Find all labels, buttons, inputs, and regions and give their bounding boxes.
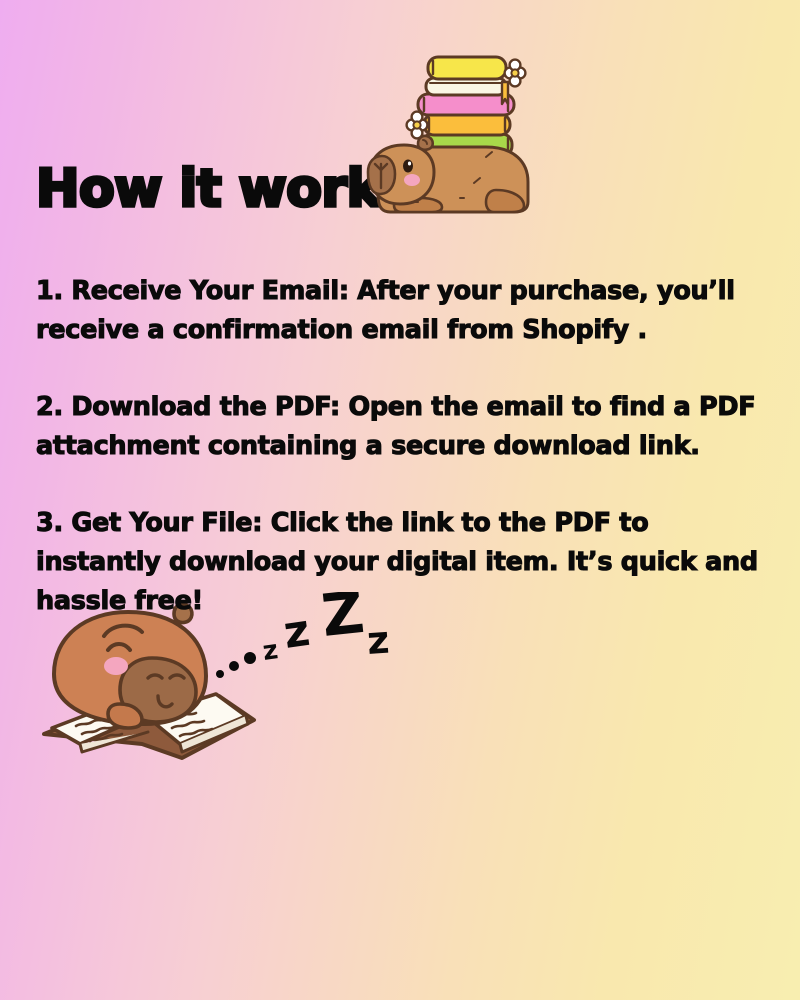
book-second-white — [426, 78, 506, 95]
sleeping-capybara-paw — [108, 704, 142, 728]
sleep-dot-2 — [229, 661, 239, 671]
page-title: How it works — [36, 158, 411, 220]
book-top-yellow — [428, 57, 506, 79]
book-fourth-orange — [424, 114, 510, 135]
book-third-pink — [418, 94, 514, 115]
sleep-marks — [216, 652, 256, 678]
sleep-z-1: z — [261, 635, 280, 667]
sleep-dot-1 — [216, 670, 224, 678]
steps-list: 1. Receive Your Email: After your purcha… — [36, 272, 762, 621]
sleep-dot-3 — [244, 652, 256, 664]
capybara-with-book-stack-illustration — [356, 52, 546, 237]
bookmark-ribbon — [502, 82, 508, 104]
capybara-cheek — [404, 174, 420, 186]
step-item-3: 3. Get Your File: Click the link to the … — [36, 504, 762, 621]
poster-canvas: How it works — [0, 0, 800, 1000]
step-item-2: 2. Download the PDF: Open the email to f… — [36, 388, 762, 466]
sleeping-capybara-illustration: z z Z z — [24, 592, 404, 792]
sleep-z-4: z — [366, 618, 391, 663]
capybara-eye — [403, 160, 413, 173]
step-item-1: 1. Receive Your Email: After your purcha… — [36, 272, 762, 350]
sleeping-capybara-cheek — [104, 657, 128, 675]
